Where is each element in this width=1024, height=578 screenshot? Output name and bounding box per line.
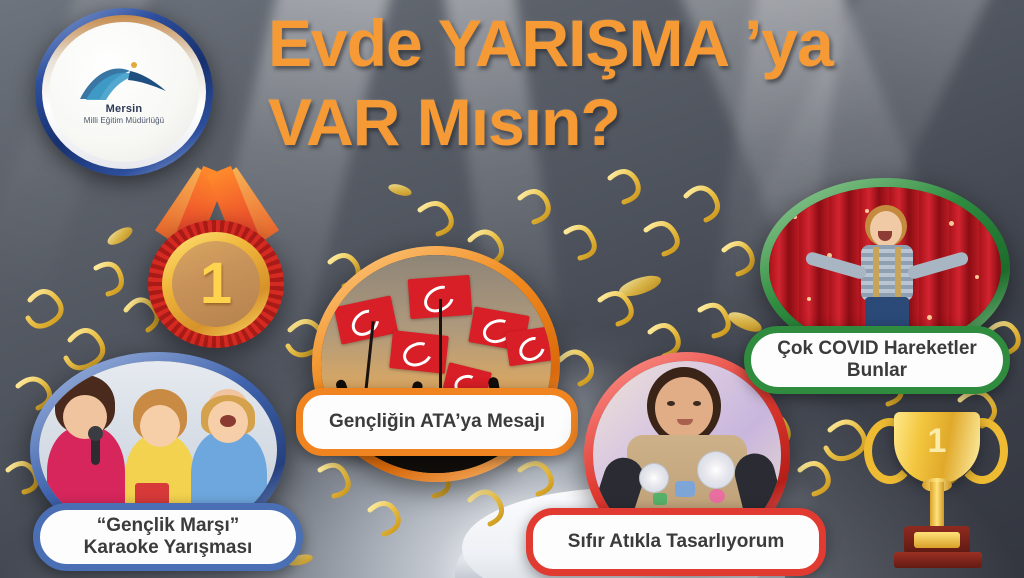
trophy-stem: [930, 482, 944, 528]
title-line-1: Evde YARIŞMA ’ya: [268, 6, 833, 80]
logo-title: Mersin: [106, 103, 143, 115]
gold-medal-icon: 1: [140, 168, 292, 348]
page-title: Evde YARIŞMA ’ya VAR Mısın?: [268, 8, 1008, 159]
caption-covid-line2: Bunlar: [777, 360, 977, 382]
logo-subtitle: Milli Eğitim Müdürlüğü: [84, 116, 164, 125]
caption-karaoke[interactable]: “Gençlik Marşı” Karaoke Yarışması: [33, 503, 303, 571]
logo-face: Mersin Milli Eğitim Müdürlüğü: [49, 22, 199, 162]
caption-recycle-line1: Sıfır Atıkla Tasarlıyorum: [568, 531, 784, 553]
caption-recycle[interactable]: Sıfır Atıkla Tasarlıyorum: [526, 508, 826, 576]
mersin-education-logo: Mersin Milli Eğitim Müdürlüğü: [35, 8, 213, 176]
caption-flags[interactable]: Gençliğin ATA’ya Mesajı: [296, 388, 578, 456]
caption-covid[interactable]: Çok COVID Hareketler Bunlar: [744, 326, 1010, 394]
medal-inner-face: 1: [172, 241, 260, 327]
caption-karaoke-line1: “Gençlik Marşı”: [84, 515, 253, 537]
gold-trophy-icon: [856, 404, 1016, 576]
caption-covid-line1: Çok COVID Hareketler: [777, 338, 977, 360]
competition-poster: Mersin Milli Eğitim Müdürlüğü Evde YARIŞ…: [0, 0, 1024, 578]
photo-covid-image: [769, 187, 1001, 349]
title-line-2: VAR Mısın?: [268, 87, 1008, 158]
caption-flags-line1: Gençliğin ATA’ya Mesajı: [329, 411, 545, 433]
medal-gold-rim: 1: [162, 232, 270, 336]
trophy-base-lower: [894, 552, 982, 568]
medal-number: 1: [200, 255, 232, 313]
caption-karaoke-line2: Karaoke Yarışması: [84, 537, 253, 559]
medal-disc: 1: [148, 220, 284, 348]
swoosh-bird-icon: [74, 59, 174, 103]
trophy-plate: [914, 532, 960, 548]
